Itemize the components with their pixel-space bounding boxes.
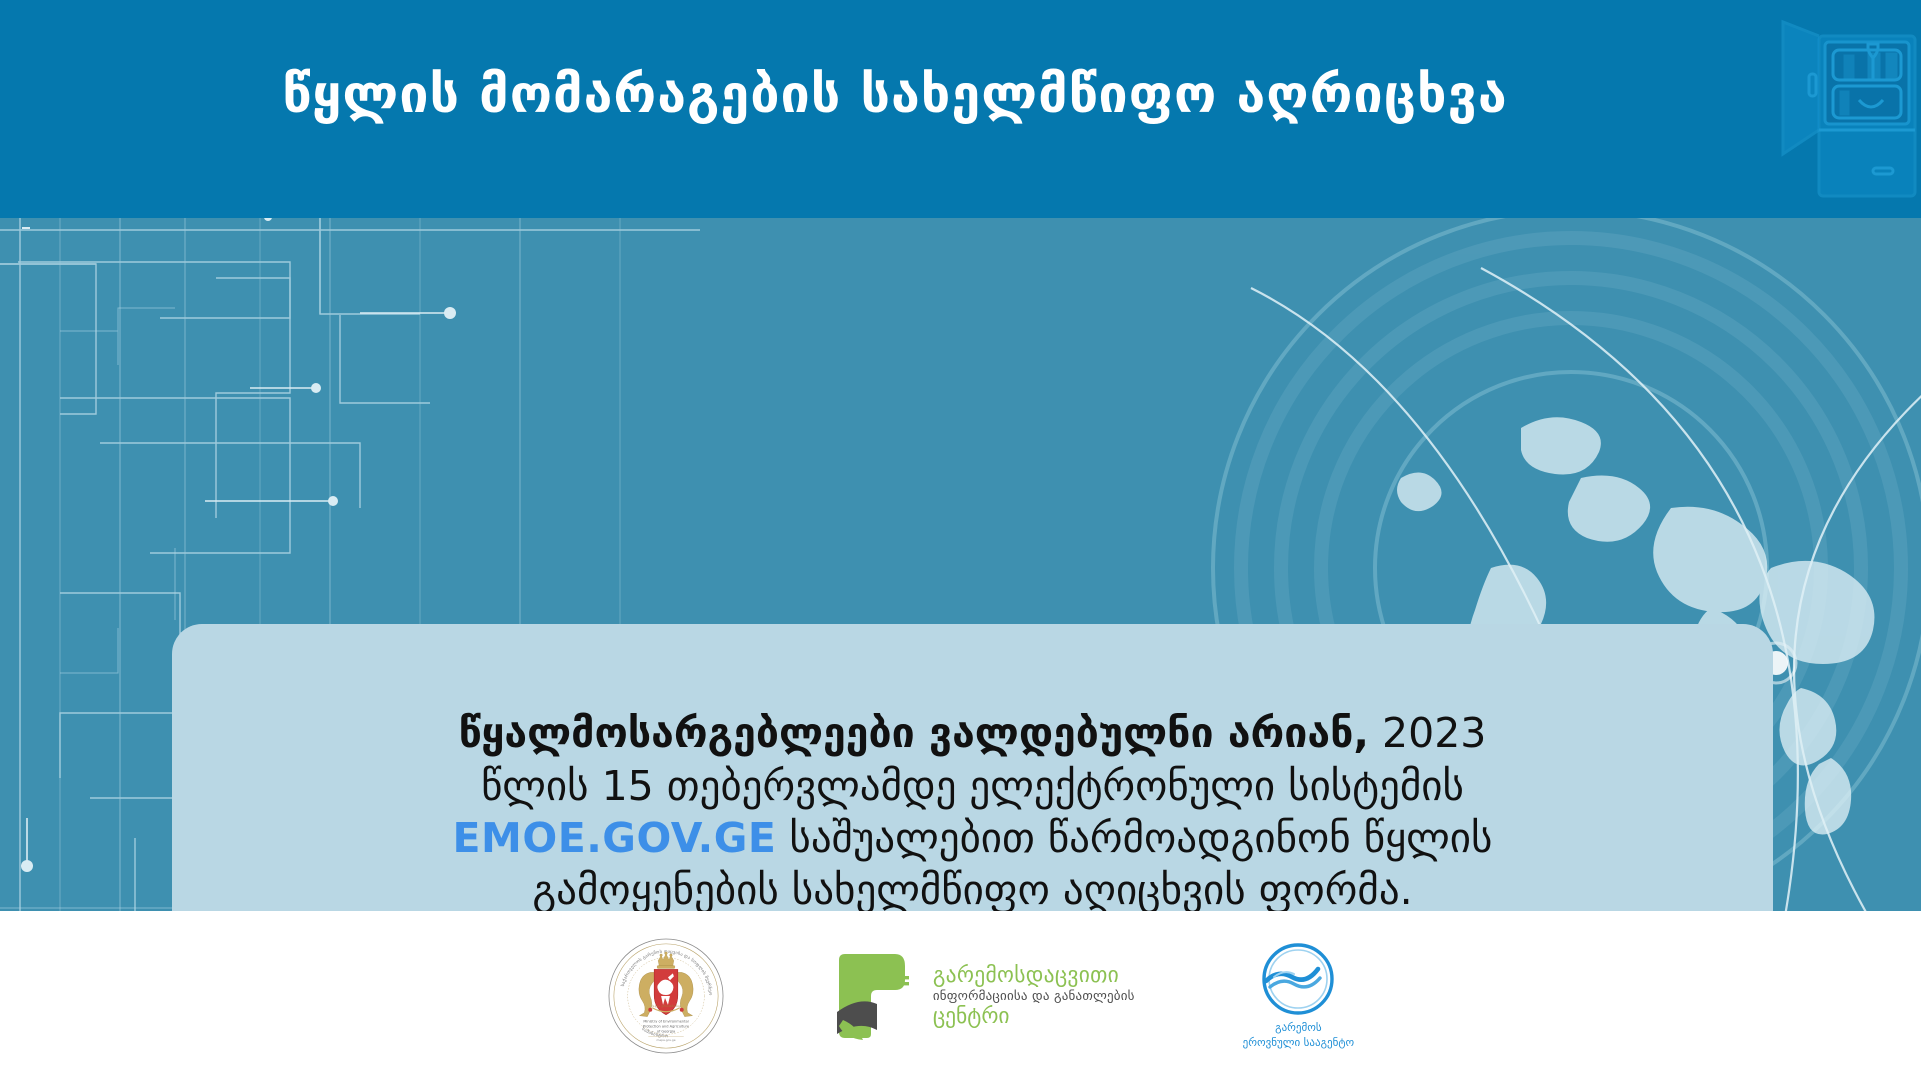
card-line-1-plain: 2023 bbox=[1369, 709, 1486, 757]
poster-canvas: წყლის მომარაგების სახელმწიფო აღრიცხვა bbox=[0, 0, 1921, 1081]
svg-text:Ministry of Environmental: Ministry of Environmental bbox=[643, 1020, 688, 1024]
nea-line-2: ეროვნული სააგენტო bbox=[1243, 1036, 1355, 1051]
mid-background: წყალმოსარგებლეები ვალდებულნი არიან, 2023… bbox=[0, 218, 1921, 911]
page-title: წყლის მომარაგების სახელმწიფო აღრიცხვა bbox=[0, 68, 1790, 123]
eiec-book-mark-icon bbox=[833, 950, 925, 1042]
eiec-line-2: ინფორმაციისა და განათლების bbox=[933, 990, 1135, 1003]
nea-wordmark: გარემოს ეროვნული სააგენტო bbox=[1243, 1021, 1355, 1051]
info-card: წყალმოსარგებლეები ვალდებულნი არიან, 2023… bbox=[172, 624, 1773, 911]
eiec-wordmark: გარემოსდაცვითი ინფორმაციისა და განათლები… bbox=[933, 965, 1135, 1027]
logo-environmental-information-and-education-center: გარემოსდაცვითი ინფორმაციისა და განათლები… bbox=[833, 950, 1135, 1042]
svg-text:Protection and Agriculture: Protection and Agriculture bbox=[643, 1024, 689, 1028]
nea-line-1: გარემოს bbox=[1243, 1021, 1355, 1036]
eiec-line-1: გარემოსდაცვითი bbox=[933, 965, 1135, 987]
refrigerator-cabinet-icon bbox=[1781, 0, 1921, 205]
info-card-text: წყალმოსარგებლეები ვალდებულნი არიან, 2023… bbox=[172, 624, 1773, 911]
card-line-1: წყალმოსარგებლეები ვალდებულნი არიან, 2023 bbox=[459, 707, 1487, 759]
header-banner: წყლის მომარაგების სახელმწიფო აღრიცხვა bbox=[0, 0, 1921, 218]
card-line-3-plain: საშუალებით წარმოადგინონ წყლის bbox=[776, 814, 1492, 862]
logo-national-environmental-agency: გარემოს ეროვნული სააგენტო bbox=[1243, 941, 1355, 1051]
svg-text:of Georgia: of Georgia bbox=[657, 1029, 675, 1033]
card-line-3: EMOE.GOV.GE საშუალებით წარმოადგინონ წყლი… bbox=[453, 812, 1493, 864]
card-line-4-plain: გამოყენების სახელმწიფო აღიცხვის ფორმა. bbox=[532, 866, 1412, 911]
svg-text:mepa.gov.ge: mepa.gov.ge bbox=[656, 1038, 675, 1042]
card-line-1-bold: წყალმოსარგებლეები ვალდებულნი არიან, bbox=[459, 709, 1369, 757]
emoe-gov-ge-link[interactable]: EMOE.GOV.GE bbox=[453, 814, 777, 862]
card-line-2: წლის 15 თებერვლამდე ელექტრონული სისტემის bbox=[481, 760, 1464, 812]
eiec-line-3: ცენტრი bbox=[933, 1006, 1135, 1028]
logo-row: საქართველოს გარემოს დაცვისა და სოფლის მე… bbox=[0, 911, 1921, 1081]
footer-logo-bar: საქართველოს გარემოს დაცვისა და სოფლის მე… bbox=[0, 911, 1921, 1081]
card-line-2-plain: წლის 15 თებერვლამდე ელექტრონული სისტემის bbox=[481, 762, 1464, 810]
georgia-ministry-seal-icon: საქართველოს გარემოს დაცვისა და სოფლის მე… bbox=[607, 937, 725, 1055]
nea-wave-circle-icon bbox=[1260, 941, 1336, 1017]
card-line-4: გამოყენების სახელმწიფო აღიცხვის ფორმა. bbox=[532, 864, 1412, 911]
logo-ministry-of-environmental-protection-and-agriculture: საქართველოს გარემოს დაცვისა და სოფლის მე… bbox=[607, 937, 725, 1055]
svg-text:ძალა ერთობაშია: ძალა ერთობაშია bbox=[651, 1004, 681, 1008]
